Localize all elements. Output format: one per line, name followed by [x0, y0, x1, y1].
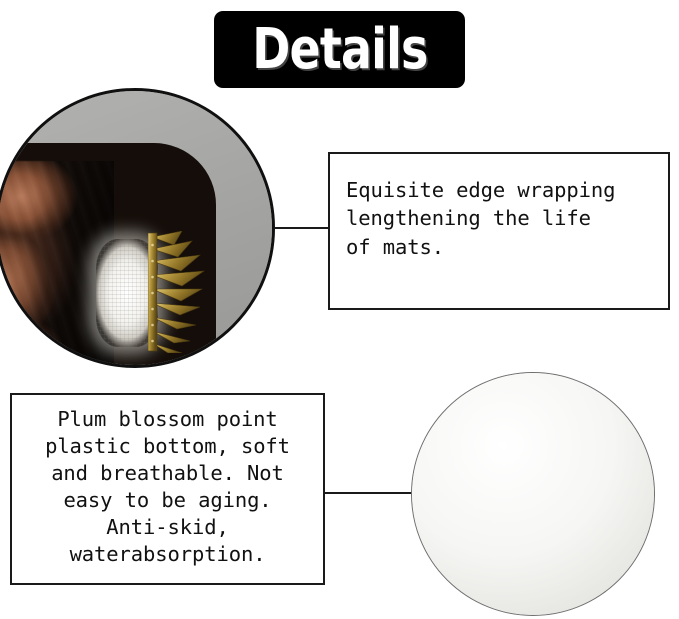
mat-sheen	[412, 373, 654, 615]
callout-edge-wrapping-text: Equisite edge wrapping lengthening the l…	[330, 154, 615, 261]
page-title: Details	[252, 22, 427, 78]
product-details-infographic: Details	[0, 0, 679, 619]
photo-gold-crown	[148, 231, 206, 353]
callout-edge-wrapping: Equisite edge wrapping lengthening the l…	[328, 152, 670, 310]
callout-plastic-bottom-text: Plum blossom point plastic bottom, soft …	[45, 406, 290, 572]
callout-plastic-bottom: Plum blossom point plastic bottom, soft …	[10, 393, 325, 585]
details-banner: Details	[214, 11, 465, 88]
connector-top	[274, 227, 330, 229]
connector-bottom	[323, 492, 413, 494]
mat-underside-photo	[411, 372, 655, 616]
mat-edge-photo	[0, 88, 275, 368]
